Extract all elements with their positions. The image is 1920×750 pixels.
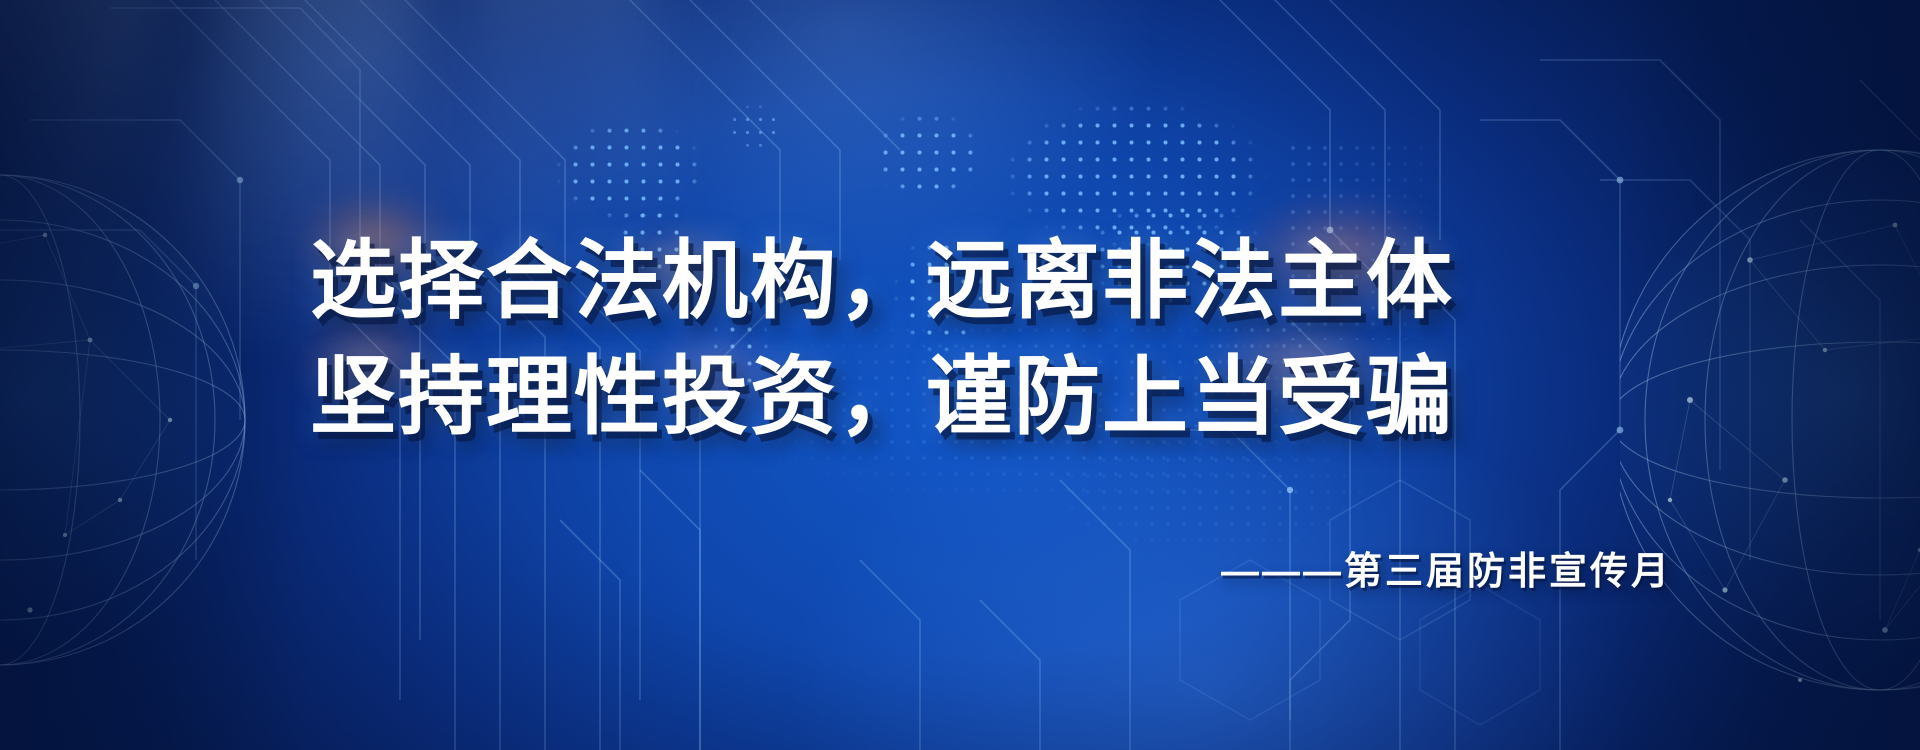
banner-text-content: 选择合法机构，远离非法主体 坚持理性投资，谨防上当受骗 ———第三届防非宣传月 bbox=[0, 0, 1920, 750]
promo-banner: 选择合法机构，远离非法主体 坚持理性投资，谨防上当受骗 ———第三届防非宣传月 bbox=[0, 0, 1920, 750]
headline-line-2: 坚持理性投资，谨防上当受骗 bbox=[310, 354, 1670, 440]
headline-line-1: 选择合法机构，远离非法主体 bbox=[310, 238, 1670, 324]
attribution-text: ———第三届防非宣传月 bbox=[0, 540, 1672, 595]
